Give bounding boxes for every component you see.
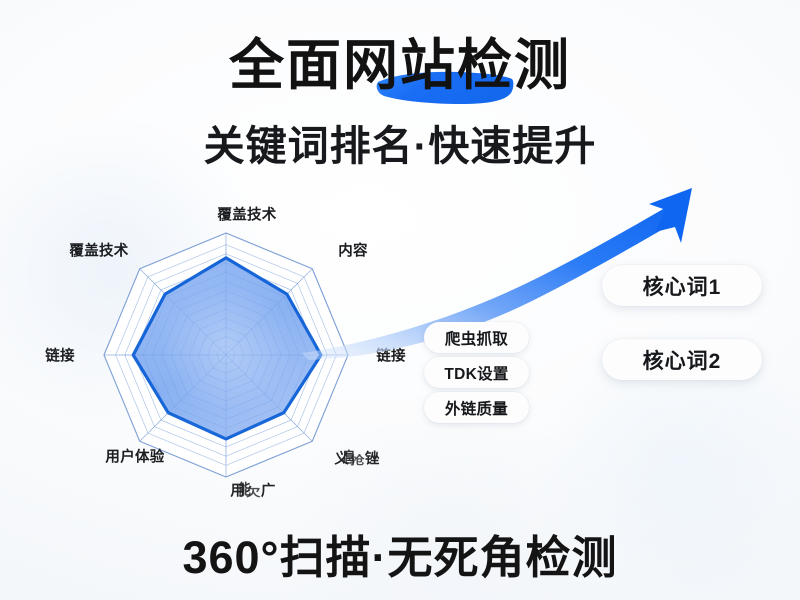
radar-axis-label-5: 用户体验	[105, 446, 164, 467]
page-title: 全面网站检测	[229, 36, 571, 95]
radar-axis-label-4: 用能欠广	[230, 480, 275, 501]
radar-axis-label-7: 覆盖技术	[69, 240, 128, 261]
poster-canvas: 全面网站检测 关键词排名·快速提升 覆盖技术内容链接义扈抢锉用能欠广用户体验链接…	[0, 0, 800, 600]
title-block: 全面网站检测	[0, 36, 800, 95]
page-subtitle: 关键词排名·快速提升	[0, 112, 800, 172]
check-pill-label: TDK设置	[444, 362, 508, 384]
radar-chart: 覆盖技术内容链接义扈抢锉用能欠广用户体验链接覆盖技术	[36, 192, 416, 522]
radar-axis-label-1: 内容	[338, 240, 368, 261]
check-pill-crawl[interactable]: 爬虫抓取	[424, 322, 529, 353]
check-pill-label: 爬虫抓取	[445, 327, 508, 349]
keyword-pill-2[interactable]: 核心词2	[602, 339, 762, 380]
radar-axis-label-6: 链接	[45, 345, 75, 366]
title-segment-before: 全面	[229, 34, 343, 96]
radar-axis-label-3: 义扈抢锉	[334, 448, 379, 469]
radar-geometry	[104, 233, 348, 477]
title-segment-highlight: 网站	[343, 34, 457, 96]
keyword-pill-1[interactable]: 核心词1	[602, 265, 762, 306]
radar-axis-label-2: 链接	[376, 345, 406, 366]
check-pill-label: 外链质量	[445, 397, 508, 419]
keyword-pill-label: 核心词2	[643, 345, 722, 375]
footer-headline: 360°扫描·无死角检测	[0, 521, 800, 586]
radar-axis-label-0: 覆盖技术	[217, 204, 276, 225]
title-segment-after: 检测	[457, 34, 571, 96]
check-pill-backlink[interactable]: 外链质量	[424, 392, 529, 423]
check-pill-tdk[interactable]: TDK设置	[424, 357, 529, 388]
keyword-pill-label: 核心词1	[643, 271, 722, 301]
